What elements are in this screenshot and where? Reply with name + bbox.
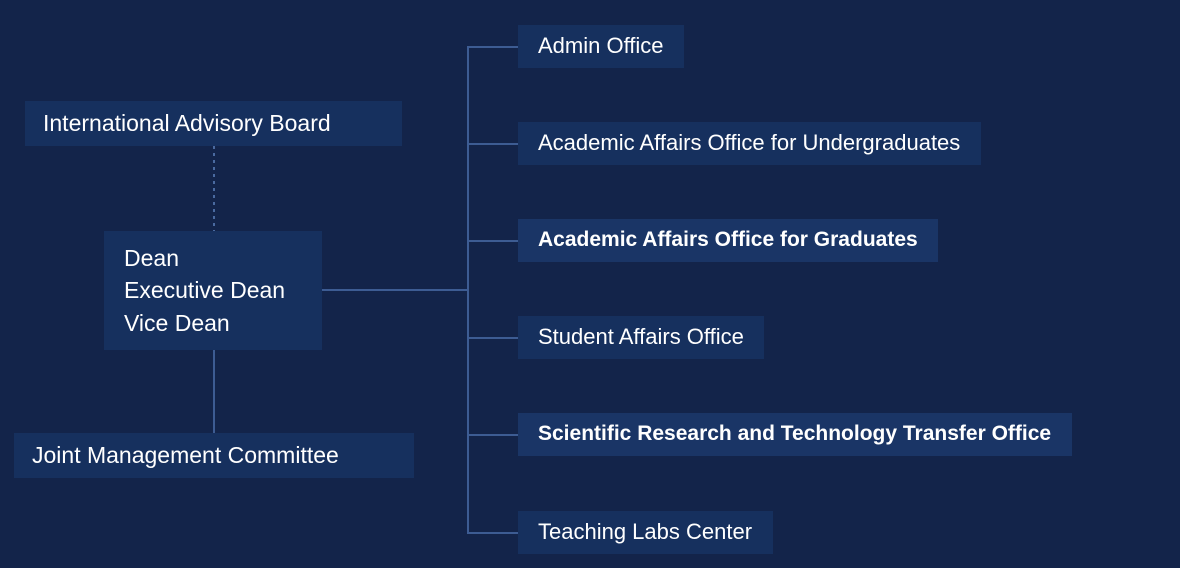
node-admin-office[interactable]: Admin Office [518, 25, 684, 68]
node-international-advisory-board[interactable]: International Advisory Board [25, 101, 402, 146]
org-chart: International Advisory Board Dean Execut… [0, 0, 1180, 568]
node-label-dean: Dean [124, 242, 179, 274]
connector-stub-academic-affairs-undergraduates [467, 143, 518, 145]
node-student-affairs-office[interactable]: Student Affairs Office [518, 316, 764, 359]
node-label-admin-office: Admin Office [538, 32, 664, 60]
node-teaching-labs-center[interactable]: Teaching Labs Center [518, 511, 773, 554]
node-academic-affairs-office-undergraduates[interactable]: Academic Affairs Office for Undergraduat… [518, 122, 981, 165]
node-label-academic-affairs-office-undergraduates: Academic Affairs Office for Undergraduat… [538, 129, 961, 157]
connector-dean-to-joint-committee [213, 350, 215, 433]
node-scientific-research-and-technology-transfer-office[interactable]: Scientific Research and Technology Trans… [518, 413, 1072, 456]
node-label-international-advisory-board: International Advisory Board [43, 109, 384, 138]
node-label-academic-affairs-office-graduates: Academic Affairs Office for Graduates [538, 227, 918, 254]
connector-stub-admin-office [467, 46, 518, 48]
node-label-executive-dean: Executive Dean [124, 274, 285, 306]
connector-stub-student-affairs-office [467, 337, 518, 339]
connector-stub-academic-affairs-graduates [467, 240, 518, 242]
connector-stub-scientific-research-office [467, 434, 518, 436]
connector-stub-teaching-labs-center [467, 532, 518, 534]
node-joint-management-committee[interactable]: Joint Management Committee [14, 433, 414, 478]
node-label-scientific-research-and-technology-transfer-office: Scientific Research and Technology Trans… [538, 421, 1052, 448]
node-dean[interactable]: Dean Executive Dean Vice Dean [104, 231, 322, 350]
node-label-student-affairs-office: Student Affairs Office [538, 323, 744, 351]
connector-advisory-to-dean [213, 146, 215, 231]
connector-trunk-vertical [467, 46, 469, 534]
connector-dean-to-trunk [322, 289, 468, 291]
node-label-vice-dean: Vice Dean [124, 307, 230, 339]
node-label-joint-management-committee: Joint Management Committee [32, 441, 396, 470]
node-label-teaching-labs-center: Teaching Labs Center [538, 518, 753, 546]
node-academic-affairs-office-graduates[interactable]: Academic Affairs Office for Graduates [518, 219, 938, 262]
